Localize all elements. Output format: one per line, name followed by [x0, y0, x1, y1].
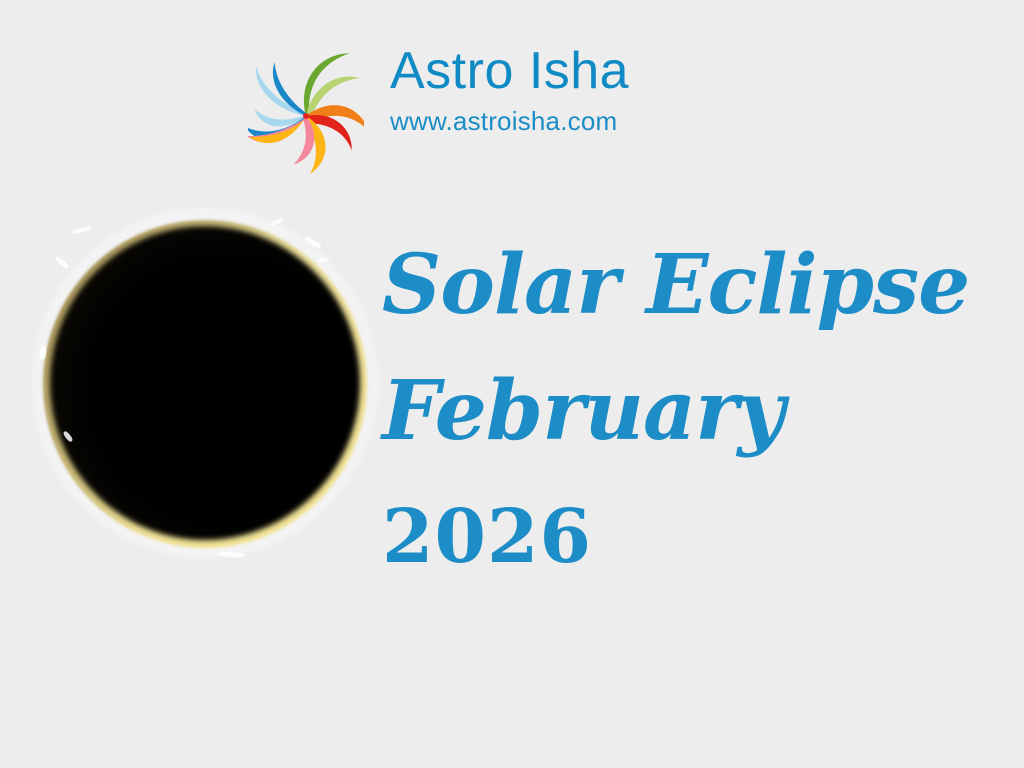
- solar-eclipse-image: [18, 196, 392, 574]
- image-artifact-speck: [72, 225, 92, 234]
- brand-website-url[interactable]: www.astroisha.com: [390, 104, 710, 138]
- colorful-spiral-icon: [248, 44, 364, 184]
- brand-text-block: Astro Isha www.astroisha.com: [390, 38, 710, 138]
- headline-line-3: 2026: [382, 474, 982, 600]
- image-artifact-speck: [54, 255, 69, 269]
- page-title: Solar Eclipse February 2026: [382, 222, 982, 600]
- astro-isha-logo: [248, 44, 364, 184]
- eclipse-moon-shadow-disc: [50, 226, 360, 540]
- brand-name: Astro Isha: [390, 38, 710, 104]
- brand-header: Astro Isha www.astroisha.com: [248, 38, 708, 188]
- headline-line-1: Solar Eclipse: [382, 222, 982, 348]
- headline-line-2: February: [382, 348, 982, 474]
- eclipse-poster: Astro Isha www.astroisha.com Solar Eclip…: [0, 0, 1024, 768]
